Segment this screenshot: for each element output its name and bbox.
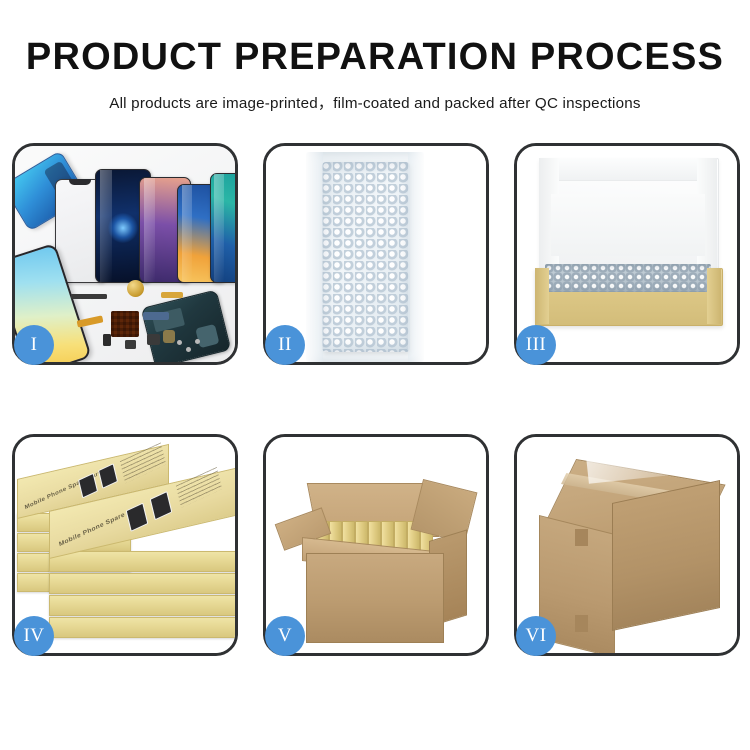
bubble-wrapped-contents-icon: [545, 264, 711, 292]
step-badge-1: I: [14, 325, 54, 365]
step-image-5: [266, 437, 486, 653]
steps-grid: I II III: [12, 143, 738, 678]
retail-box-front-3: [49, 595, 235, 616]
spare-parts-cluster: [75, 282, 205, 360]
retail-box-front-2: [49, 573, 235, 594]
screws-icon: [177, 338, 203, 356]
step-image-6: [517, 437, 737, 653]
product-preparation-infographic: PRODUCT PREPARATION PROCESS All products…: [0, 0, 750, 750]
carton-body: [306, 553, 444, 643]
step-image-2: [266, 146, 486, 362]
page-title: PRODUCT PREPARATION PROCESS: [0, 0, 750, 76]
logic-board-icon: [111, 311, 139, 337]
step-badge-6: VI: [516, 616, 556, 656]
page-subtitle: All products are image-printed，film-coat…: [0, 76, 750, 113]
screen-print-front-b: [150, 491, 173, 520]
step-image-4: Mobile Phone Spare Parts Mobile Phone Sp…: [15, 437, 235, 653]
flex-cable-c-icon: [143, 312, 169, 320]
screen-print-rear-b: [98, 463, 118, 489]
step-image-3: [517, 146, 737, 362]
step-badge-5: V: [265, 616, 305, 656]
step-image-1: [15, 146, 235, 362]
kraft-tray-lip-left: [535, 268, 549, 324]
sim-tray-icon: [103, 334, 111, 346]
step-panel-1: I: [12, 143, 238, 365]
step-badge-4: IV: [14, 616, 54, 656]
small-part-icon: [125, 340, 136, 349]
earpiece-mesh-icon: [71, 294, 107, 299]
spec-lines-rear: [120, 442, 166, 483]
bubble-wrap-icon: [322, 162, 410, 352]
wrap-edge-right: [408, 152, 424, 362]
box-lid-top-edge: [547, 158, 709, 181]
retail-box-front-1: [49, 551, 235, 572]
step-panel-4: Mobile Phone Spare Parts Mobile Phone Sp…: [12, 434, 238, 656]
step-panel-2: II: [263, 143, 489, 365]
phone-display-fan: [55, 158, 230, 283]
camera-module-icon: [127, 280, 144, 297]
step-panel-5: V: [263, 434, 489, 656]
wrap-edge-left: [306, 152, 323, 362]
foam-sheet-icon: [551, 194, 705, 256]
phone-screen-teal-icon: [210, 173, 235, 283]
connector-icon: [147, 334, 160, 345]
speaker-module-icon: [163, 330, 175, 343]
flex-cable-a-icon: [77, 315, 104, 327]
screen-print-front-a: [126, 503, 149, 532]
tape-tab-upper: [575, 529, 588, 546]
step-panel-3: III: [514, 143, 740, 365]
kraft-tray-lip-right: [707, 268, 721, 324]
step-badge-3: III: [516, 325, 556, 365]
page-header: PRODUCT PREPARATION PROCESS All products…: [0, 0, 750, 113]
step-panel-6: VI: [514, 434, 740, 656]
spec-lines-front: [176, 467, 222, 508]
retail-box-front-4: [49, 617, 235, 638]
tape-tab-lower: [575, 615, 588, 632]
step-badge-2: II: [265, 325, 305, 365]
flex-cable-b-icon: [161, 292, 183, 298]
sealed-carton-right-face: [612, 480, 720, 631]
